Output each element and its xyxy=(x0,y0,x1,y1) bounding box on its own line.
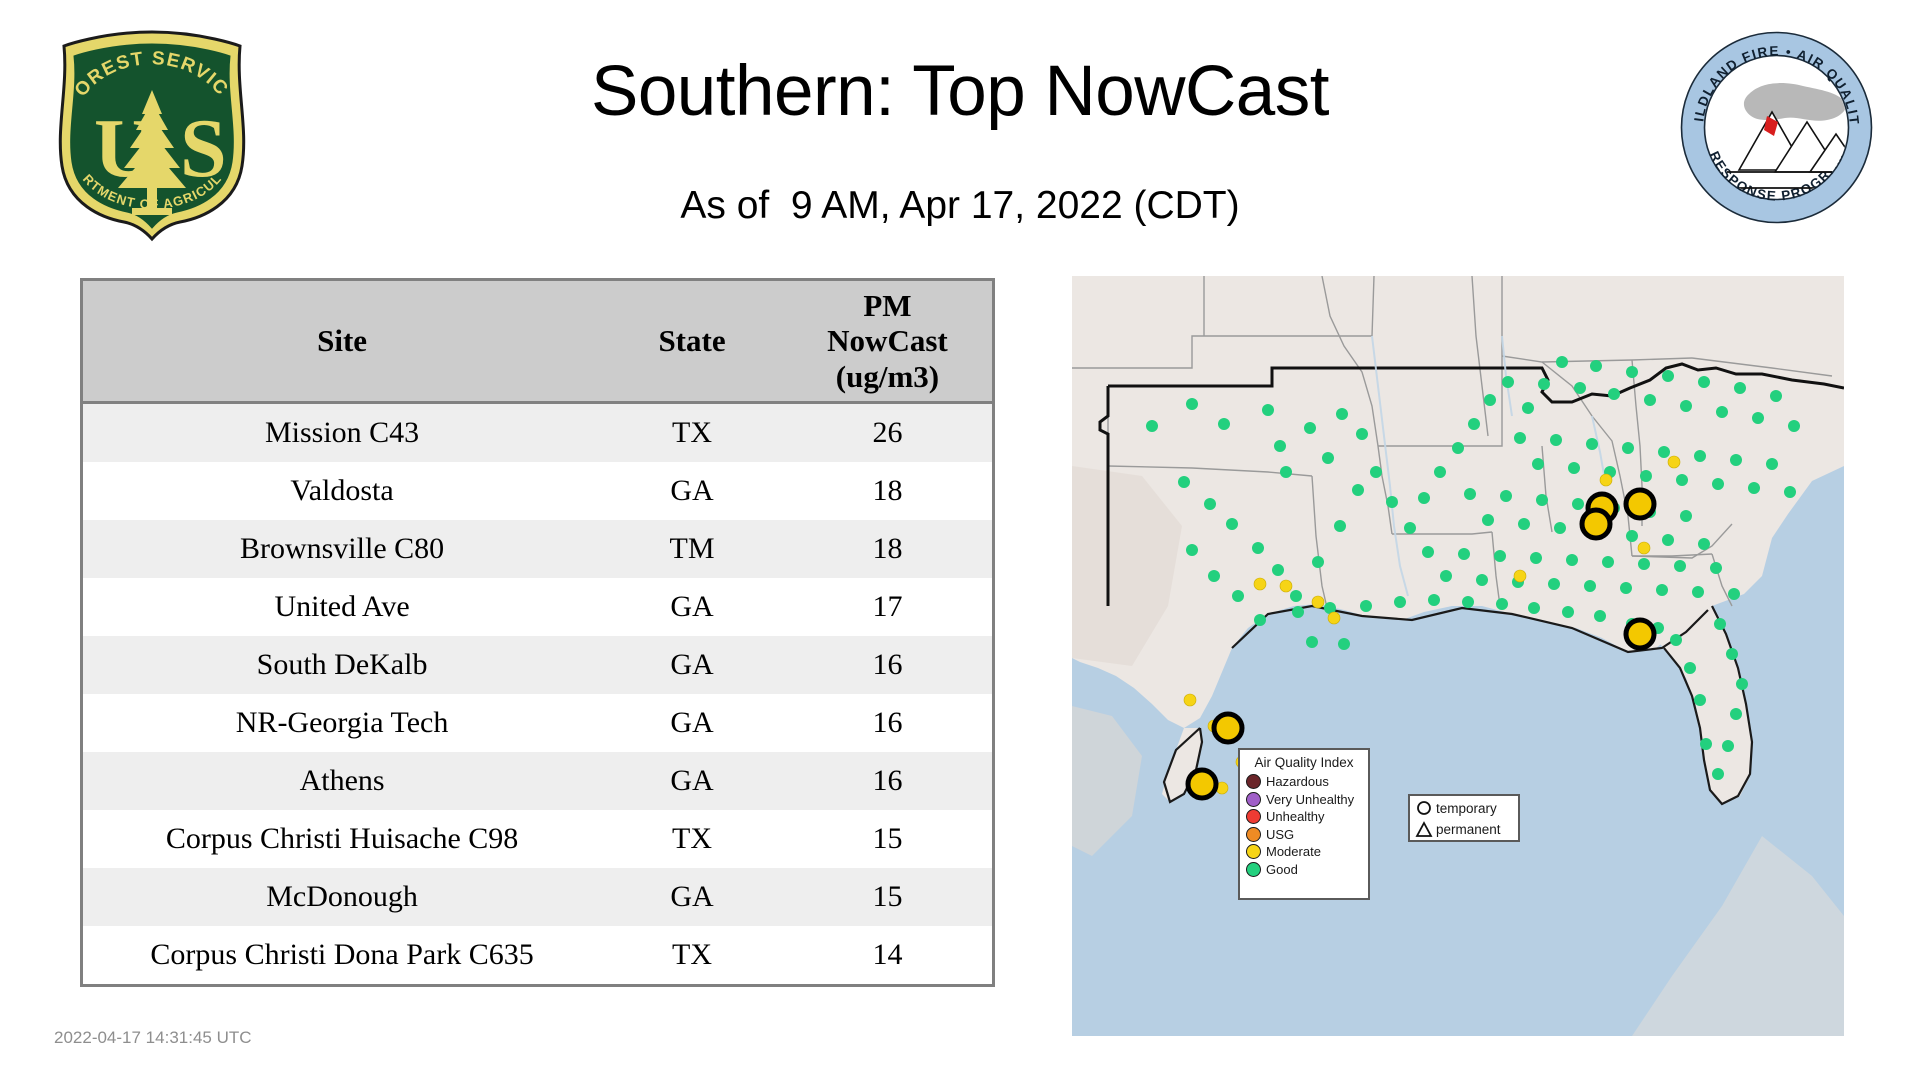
table-row: Valdosta GA 18 xyxy=(83,462,992,520)
cell-site: Mission C43 xyxy=(83,403,601,463)
cell-site: South DeKalb xyxy=(83,636,601,694)
table-row: Mission C43 TX 26 xyxy=(83,403,992,463)
top-site-marker xyxy=(1626,490,1654,518)
aqi-legend-item-very-unhealthy: Very Unhealthy xyxy=(1246,791,1362,809)
cell-pm: 15 xyxy=(783,868,992,926)
cell-site: Brownsville C80 xyxy=(83,520,601,578)
aqi-label-usg: USG xyxy=(1266,827,1294,842)
aqi-label-very-unhealthy: Very Unhealthy xyxy=(1266,792,1354,807)
triangle-icon xyxy=(1415,821,1433,839)
aqi-legend-title: Air Quality Index xyxy=(1246,755,1362,770)
aqi-label-good: Good xyxy=(1266,862,1298,877)
generated-timestamp: 2022-04-17 14:31:45 UTC xyxy=(54,1028,252,1048)
cell-state: TX xyxy=(601,810,783,868)
cell-pm: 16 xyxy=(783,636,992,694)
aqi-swatch-good xyxy=(1246,862,1261,877)
cell-state: GA xyxy=(601,694,783,752)
cell-state: GA xyxy=(601,462,783,520)
cell-site: Corpus Christi Dona Park C635 xyxy=(83,926,601,984)
monitor-type-item-permanent: permanent xyxy=(1413,819,1515,840)
aqi-swatch-moderate xyxy=(1246,844,1261,859)
cell-state: TX xyxy=(601,403,783,463)
cell-state: GA xyxy=(601,578,783,636)
table-row: South DeKalb GA 16 xyxy=(83,636,992,694)
aqi-swatch-usg xyxy=(1246,827,1261,842)
aqi-swatch-hazardous xyxy=(1246,774,1261,789)
cell-site: Corpus Christi Huisache C98 xyxy=(83,810,601,868)
cell-pm: 26 xyxy=(783,403,992,463)
table-row: Athens GA 16 xyxy=(83,752,992,810)
table-row: Corpus Christi Dona Park C635 TX 14 xyxy=(83,926,992,984)
pm-header-line2: NowCast xyxy=(783,323,992,358)
cell-pm: 16 xyxy=(783,752,992,810)
aqi-swatch-very-unhealthy xyxy=(1246,792,1261,807)
aqi-label-unhealthy: Unhealthy xyxy=(1266,809,1325,824)
cell-pm: 16 xyxy=(783,694,992,752)
aqi-legend-item-good: Good xyxy=(1246,861,1362,879)
monitor-type-item-temporary: temporary xyxy=(1413,798,1515,819)
table-row: McDonough GA 15 xyxy=(83,868,992,926)
aqi-legend-item-usg: USG xyxy=(1246,826,1362,844)
pm-header-line1: PM xyxy=(783,288,992,323)
cell-site: Athens xyxy=(83,752,601,810)
cell-site: United Ave xyxy=(83,578,601,636)
wfaqrp-logo: WILDLAND FIRE • AIR QUALITY RESPONSE PRO… xyxy=(1679,30,1874,225)
cell-pm: 18 xyxy=(783,520,992,578)
cell-pm: 15 xyxy=(783,810,992,868)
column-header-state: State xyxy=(601,281,783,403)
pm-header-line3: (ug/m3) xyxy=(783,359,992,394)
page-subtitle: As of 9 AM, Apr 17, 2022 (CDT) xyxy=(0,186,1920,225)
top-site-marker xyxy=(1582,510,1610,538)
aqi-label-hazardous: Hazardous xyxy=(1266,774,1329,789)
table-row: Corpus Christi Huisache C98 TX 15 xyxy=(83,810,992,868)
page-title: Southern: Top NowCast xyxy=(0,56,1920,127)
cell-site: Valdosta xyxy=(83,462,601,520)
monitor-type-label-temporary: temporary xyxy=(1436,801,1497,816)
monitor-type-legend: temporary permanent xyxy=(1408,794,1520,842)
table-row: NR-Georgia Tech GA 16 xyxy=(83,694,992,752)
aqi-legend: Air Quality Index Hazardous Very Unhealt… xyxy=(1238,748,1370,900)
cell-pm: 17 xyxy=(783,578,992,636)
cell-state: TM xyxy=(601,520,783,578)
top-site-marker xyxy=(1214,714,1242,742)
table-row: United Ave GA 17 xyxy=(83,578,992,636)
aqi-legend-item-moderate: Moderate xyxy=(1246,843,1362,861)
top-site-marker xyxy=(1626,620,1654,648)
aqi-monitor-map[interactable]: Air Quality Index Hazardous Very Unhealt… xyxy=(1072,276,1844,1036)
column-header-site: Site xyxy=(83,281,601,403)
cell-pm: 18 xyxy=(783,462,992,520)
column-header-pm-nowcast: PM NowCast (ug/m3) xyxy=(783,281,992,403)
monitor-type-label-permanent: permanent xyxy=(1436,822,1501,837)
aqi-swatch-unhealthy xyxy=(1246,809,1261,824)
aqi-legend-item-unhealthy: Unhealthy xyxy=(1246,808,1362,826)
nowcast-table: Site State PM NowCast (ug/m3) Mission C4… xyxy=(80,278,995,987)
aqi-label-moderate: Moderate xyxy=(1266,844,1321,859)
circle-icon xyxy=(1415,800,1433,818)
table-row: Brownsville C80 TM 18 xyxy=(83,520,992,578)
cell-pm: 14 xyxy=(783,926,992,984)
table-header-row: Site State PM NowCast (ug/m3) xyxy=(83,281,992,403)
top-site-marker xyxy=(1188,770,1216,798)
cell-state: GA xyxy=(601,868,783,926)
cell-state: GA xyxy=(601,752,783,810)
cell-state: GA xyxy=(601,636,783,694)
cell-site: McDonough xyxy=(83,868,601,926)
aqi-legend-item-hazardous: Hazardous xyxy=(1246,773,1362,791)
cell-state: TX xyxy=(601,926,783,984)
cell-site: NR-Georgia Tech xyxy=(83,694,601,752)
